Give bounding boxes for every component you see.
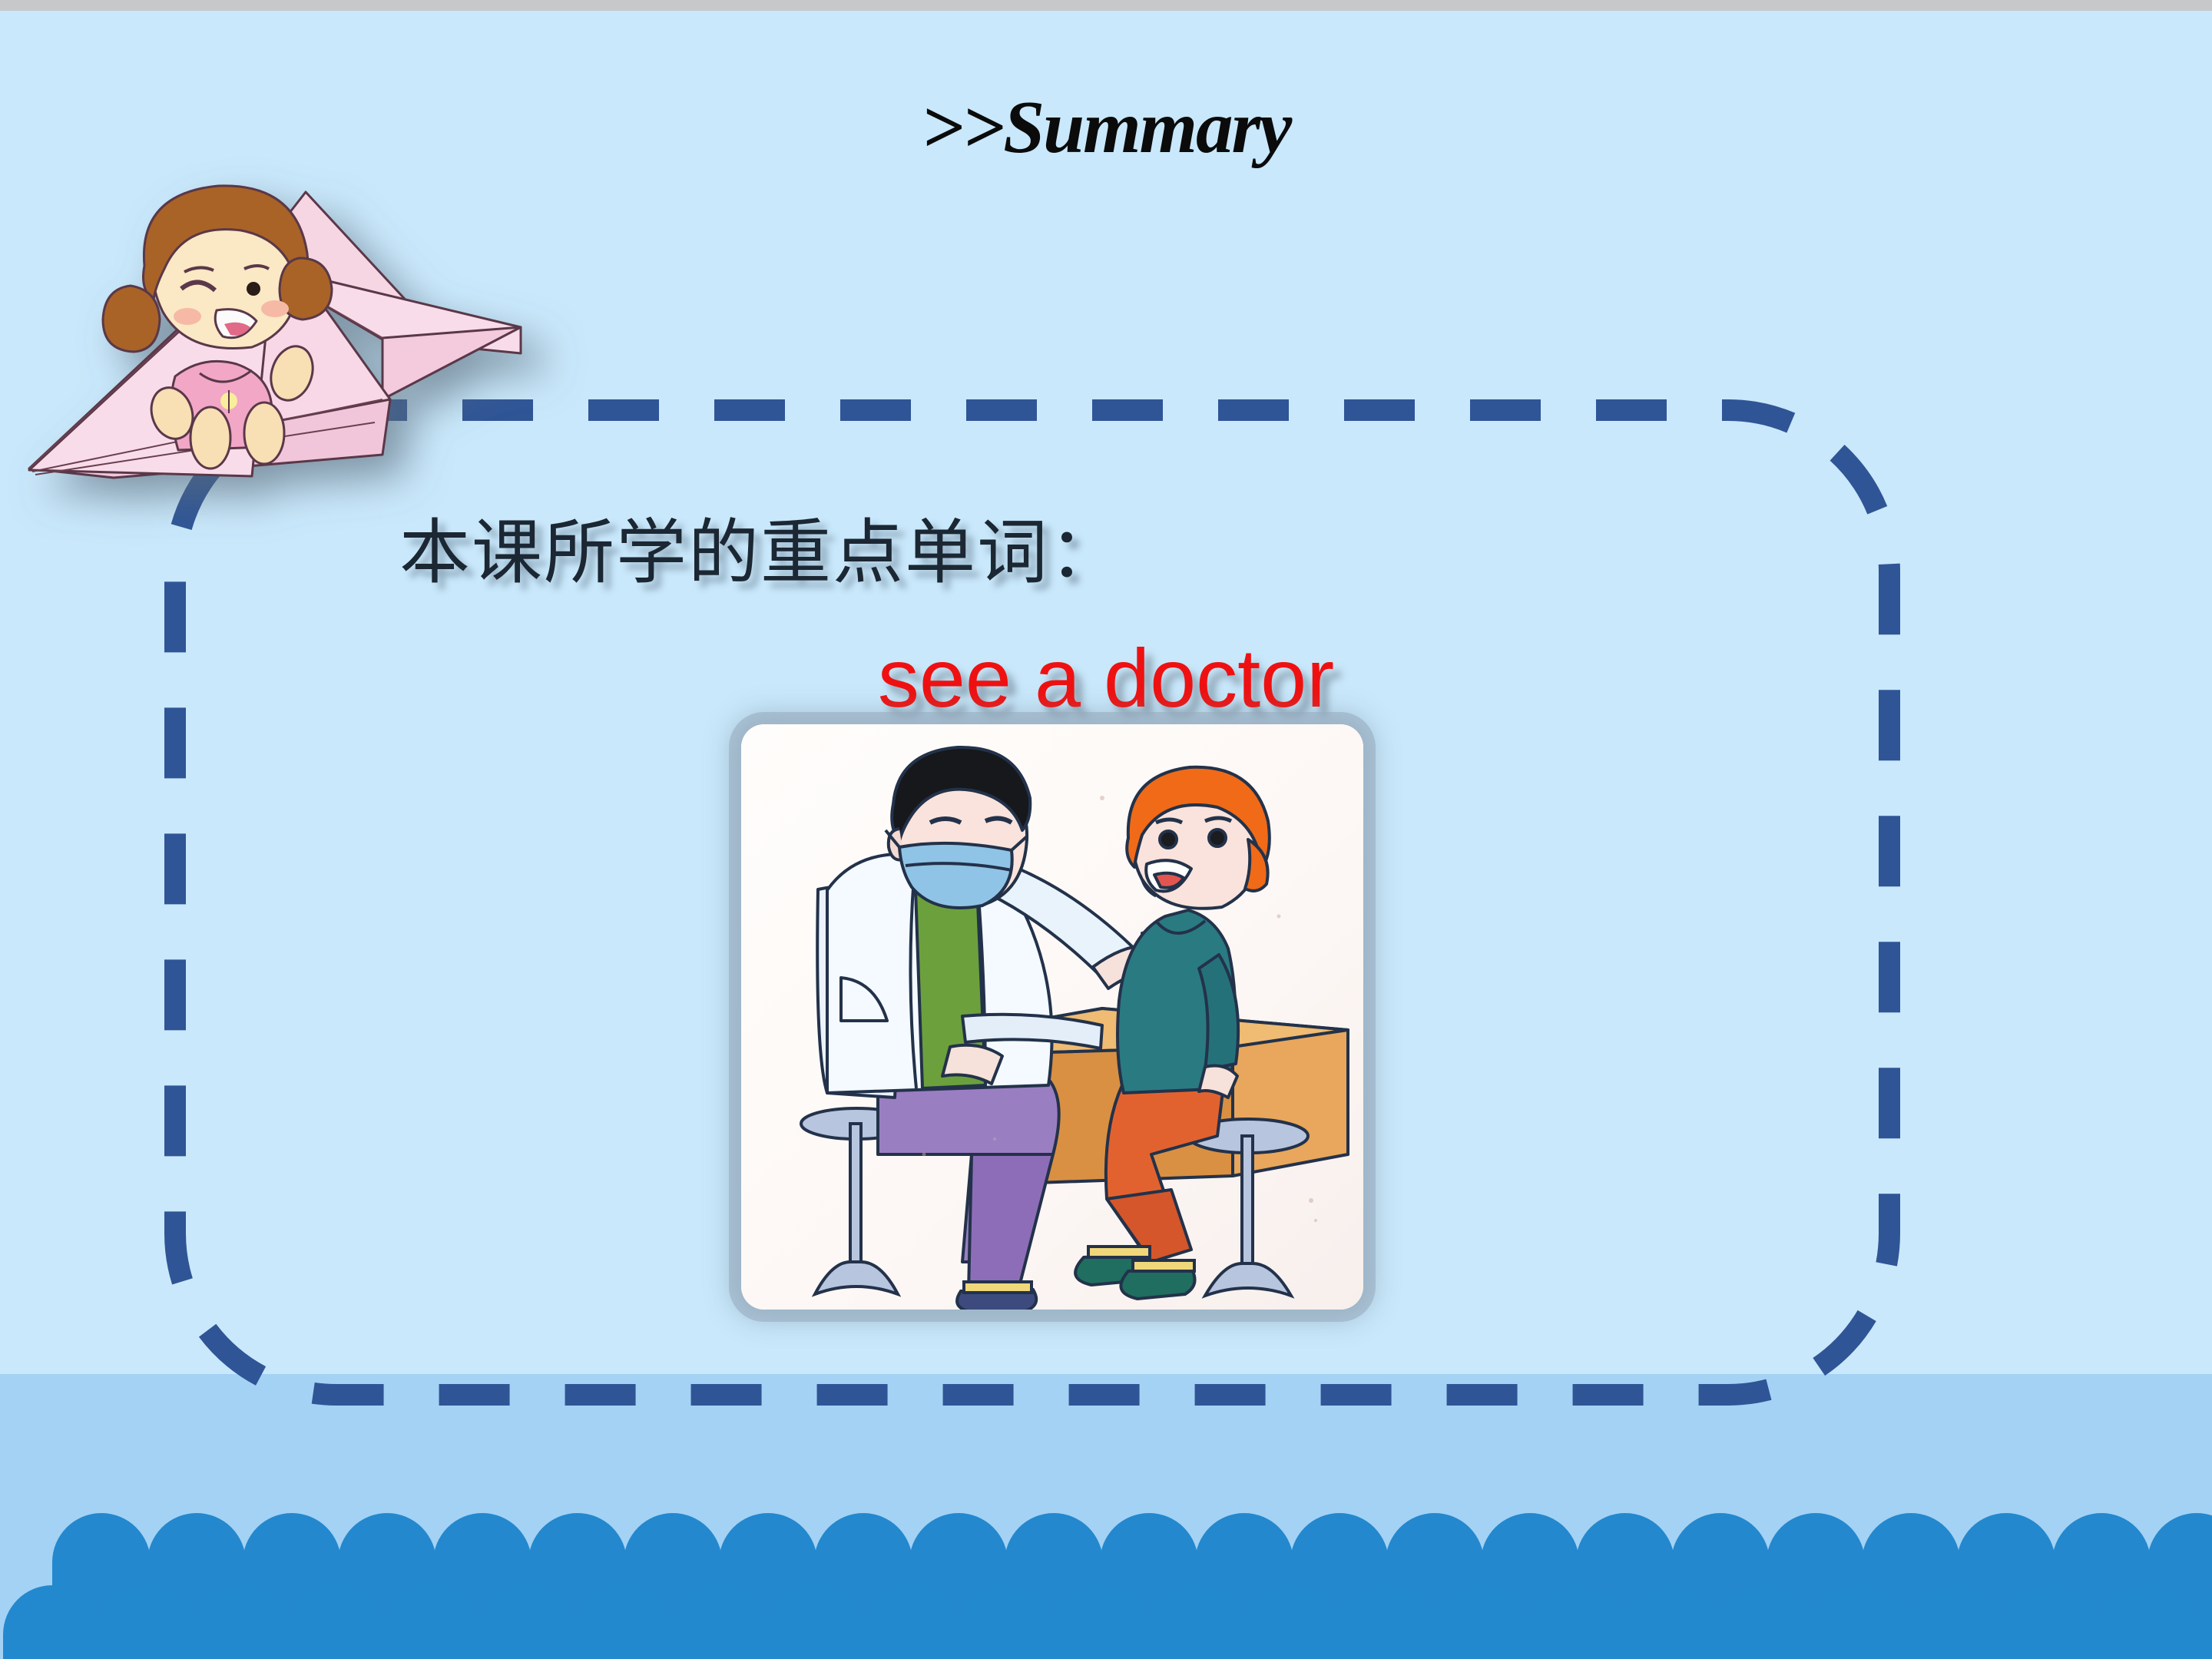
scallop-arch <box>1432 1585 1530 1659</box>
scallop-arch <box>955 1585 1054 1659</box>
scallop-arch <box>98 1585 197 1659</box>
scallop-arch <box>765 1585 863 1659</box>
scallop-arch <box>2098 1585 2197 1659</box>
scallop-arch <box>3 1585 101 1659</box>
scallop-arch <box>1622 1585 1720 1659</box>
scallop-arch <box>289 1585 387 1659</box>
scallop-arch <box>1527 1585 1625 1659</box>
scallop-arch <box>1717 1585 1816 1659</box>
scallop-arch <box>2003 1585 2101 1659</box>
scallop-arch <box>1908 1585 2006 1659</box>
scallop-arch <box>575 1585 673 1659</box>
keyword-phrase: see a doctor <box>0 630 2212 726</box>
scallop-arch <box>194 1585 292 1659</box>
slide-canvas: >>Summary 本课所学的重点单词： see a doctor <box>0 0 2212 1659</box>
scallop-arch <box>1146 1585 1244 1659</box>
scallop-arch <box>670 1585 768 1659</box>
scallop-arch <box>1241 1585 1339 1659</box>
girl-riding-paper-airplane-illustration <box>22 146 575 607</box>
scallop-arch <box>1336 1585 1435 1659</box>
doctor-examining-child-image <box>741 724 1363 1310</box>
scallop-row-front <box>0 1584 2212 1659</box>
scallop-arch <box>2194 1585 2212 1659</box>
scallop-arch <box>1813 1585 1911 1659</box>
scallop-arch <box>860 1585 959 1659</box>
scallop-arch <box>384 1585 482 1659</box>
scallop-arch <box>479 1585 578 1659</box>
scallop-arch <box>1051 1585 1149 1659</box>
window-top-strip <box>0 0 2212 11</box>
